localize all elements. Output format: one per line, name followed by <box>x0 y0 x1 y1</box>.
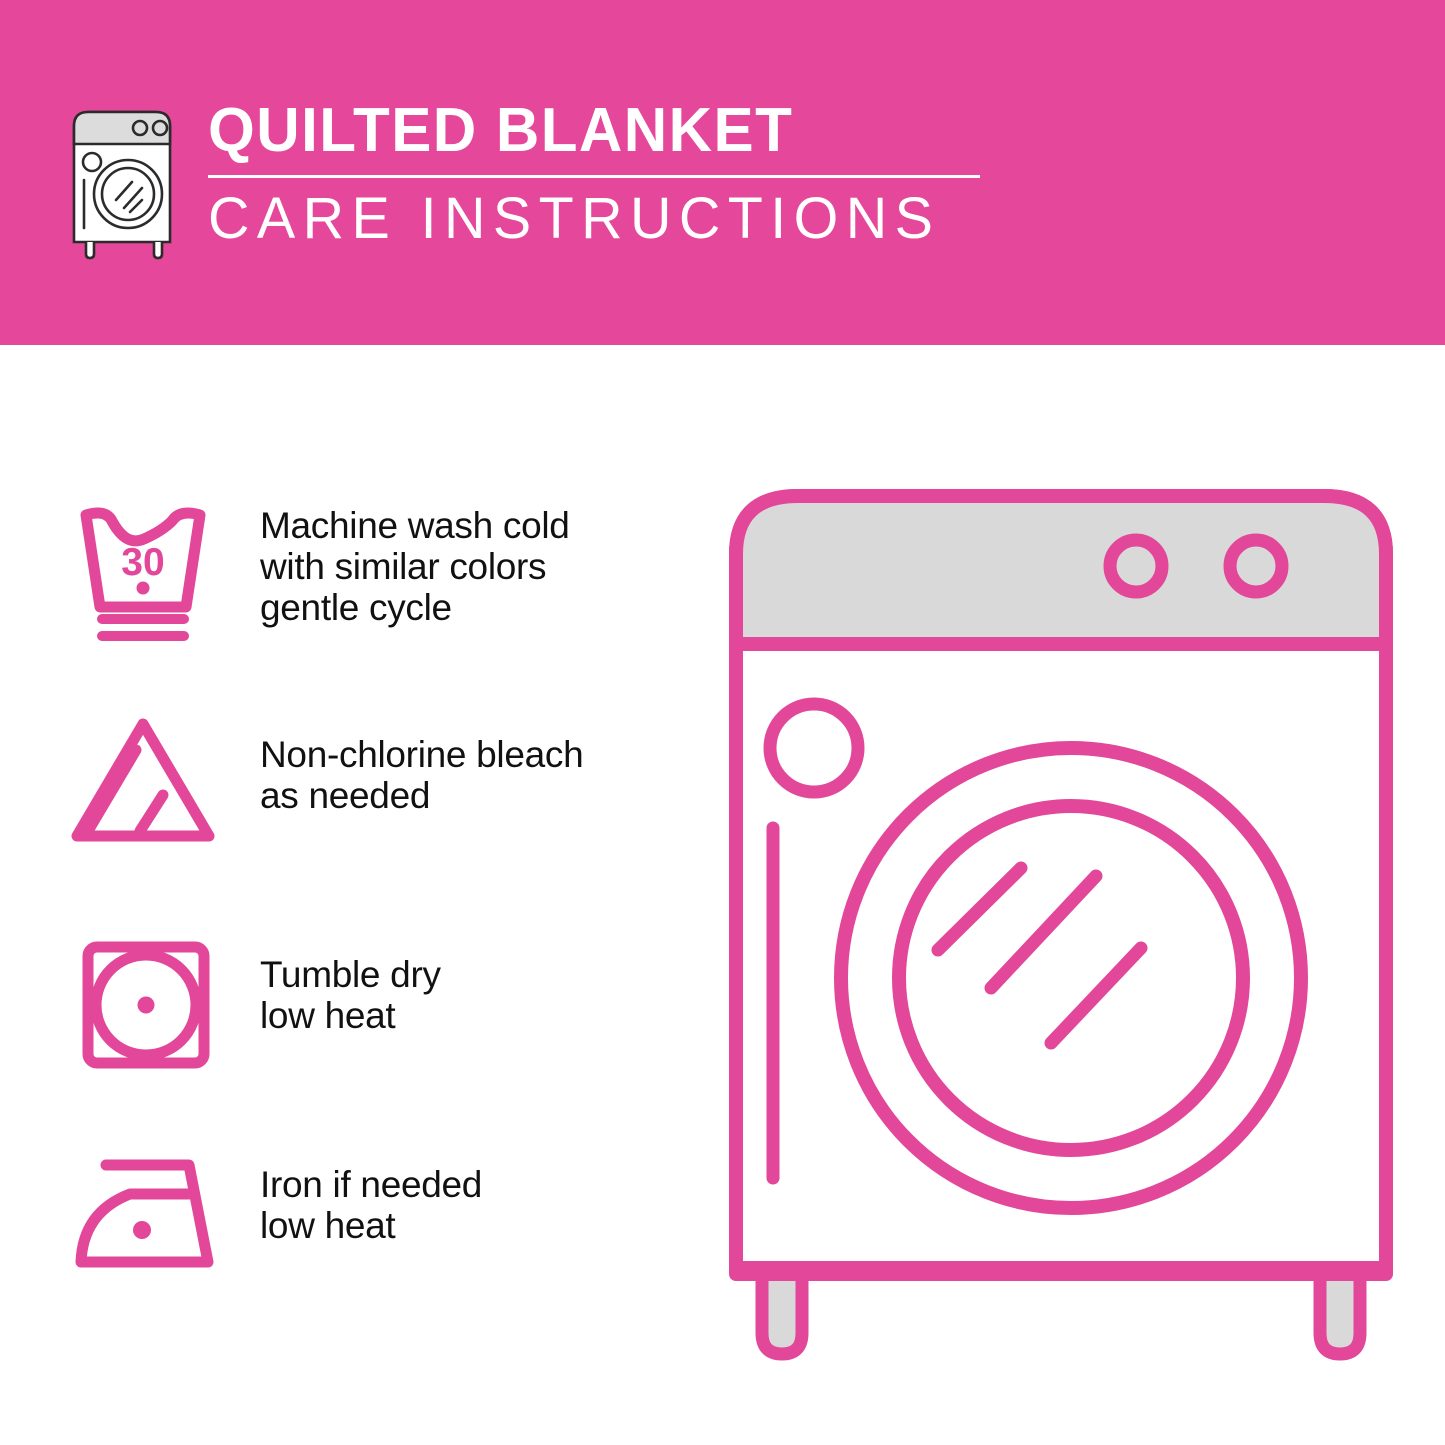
care-row-iron: Iron if needed low heat <box>68 1140 688 1290</box>
header-content: QUILTED BLANKET CARE INSTRUCTIONS <box>58 96 980 262</box>
iron-heat-dot-icon <box>133 1221 151 1239</box>
care-row-tumble-dry: Tumble dry low heat <box>68 930 688 1080</box>
care-label-line: as needed <box>260 775 583 816</box>
washing-machine-graphic <box>716 478 1416 1368</box>
tumble-dry-low-icon <box>68 930 238 1080</box>
page-title: QUILTED BLANKET <box>208 96 957 166</box>
washing-machine-icon <box>58 102 186 262</box>
wash-temperature-label: 30 <box>121 541 164 584</box>
care-row-machine-wash: 30 Machine wash cold with similar colors… <box>68 495 688 645</box>
care-label-iron: Iron if needed low heat <box>260 1140 482 1246</box>
control-panel <box>736 496 1386 644</box>
care-label-line: Iron if needed <box>260 1164 482 1205</box>
care-label-line: gentle cycle <box>260 587 570 628</box>
care-instructions-page: QUILTED BLANKET CARE INSTRUCTIONS 30 <box>0 0 1445 1445</box>
care-label-line: Non-chlorine bleach <box>260 734 583 775</box>
care-label-line: low heat <box>260 1205 482 1246</box>
iron-low-heat-icon <box>68 1140 238 1290</box>
wash-tub-30-icon: 30 <box>68 495 238 645</box>
care-label-machine-wash: Machine wash cold with similar colors ge… <box>260 495 570 628</box>
dry-heat-dot-icon <box>138 997 155 1014</box>
front-load-washing-machine-illustration <box>716 478 1416 1368</box>
care-label-tumble-dry: Tumble dry low heat <box>260 930 441 1036</box>
care-label-line: low heat <box>260 995 441 1036</box>
header-banner: QUILTED BLANKET CARE INSTRUCTIONS <box>0 0 1445 345</box>
header-titles: QUILTED BLANKET CARE INSTRUCTIONS <box>208 96 980 252</box>
care-label-bleach: Non-chlorine bleach as needed <box>260 710 583 816</box>
care-row-bleach: Non-chlorine bleach as needed <box>68 710 688 860</box>
bleach-triangle-icon <box>68 710 238 860</box>
title-divider <box>208 175 980 178</box>
care-label-line: with similar colors <box>260 546 570 587</box>
page-subtitle: CARE INSTRUCTIONS <box>208 186 972 252</box>
care-label-line: Tumble dry <box>260 954 441 995</box>
wash-dot-icon <box>137 582 150 595</box>
care-label-line: Machine wash cold <box>260 505 570 546</box>
